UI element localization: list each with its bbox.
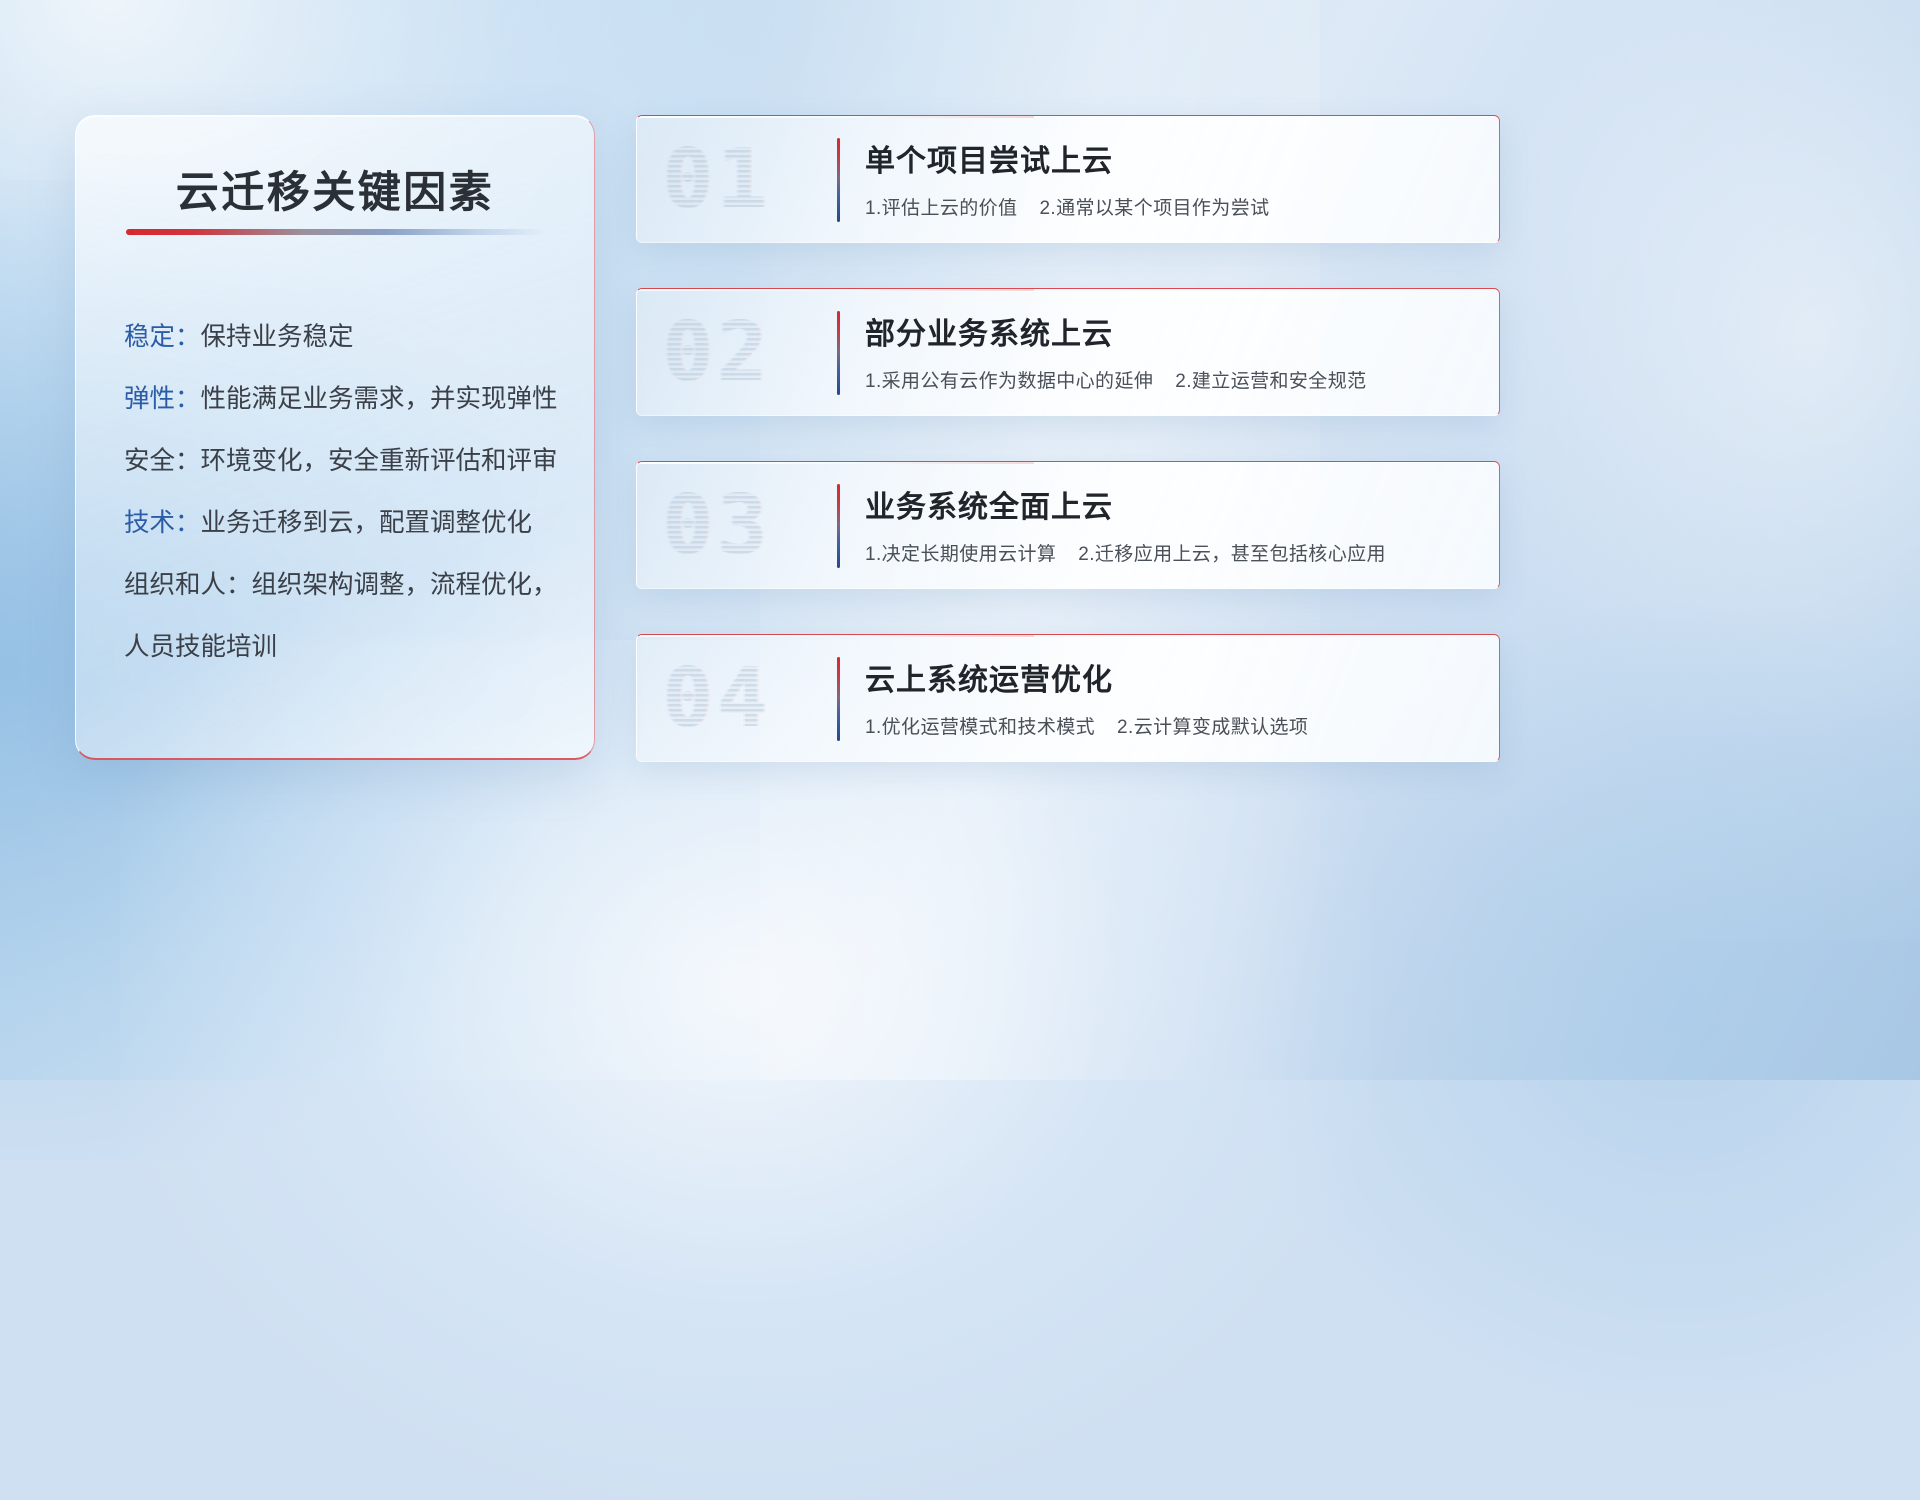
- page-title: 云迁移关键因素: [76, 158, 594, 220]
- stage-card-title: 部分业务系统上云: [865, 309, 1475, 353]
- stage-number-watermark: 03: [663, 476, 841, 576]
- stage-number-watermark: 01: [663, 130, 841, 230]
- key-factor-row: 组织和人：组织架构调整，流程优化，: [124, 554, 560, 616]
- stage-card-description-part-2: 2.通常以某个项目作为尝试: [1039, 198, 1269, 219]
- migration-stage-card[interactable]: 02部分业务系统上云1.采用公有云作为数据中心的延伸2.建立运营和安全规范: [636, 288, 1500, 416]
- key-factor-text: 人员技能培训: [124, 633, 277, 661]
- stage-card-description-part-2: 2.云计算变成默认选项: [1117, 717, 1308, 738]
- stage-card-description-part-1: 1.评估上云的价值: [865, 198, 1017, 219]
- stage-number-watermark: 02: [663, 303, 841, 403]
- stage-divider-accent: [837, 311, 840, 395]
- stage-card-description-part-1: 1.采用公有云作为数据中心的延伸: [865, 371, 1153, 392]
- key-factor-label: 弹性：: [124, 385, 201, 413]
- key-factor-row: 安全：环境变化，安全重新评估和评审: [124, 430, 560, 492]
- key-factor-text: 环境变化，安全重新评估和评审: [201, 447, 558, 475]
- migration-stage-card[interactable]: 01单个项目尝试上云1.评估上云的价值2.通常以某个项目作为尝试: [636, 115, 1500, 243]
- stage-card-title: 业务系统全面上云: [865, 482, 1475, 526]
- stage-number-watermark: 04: [663, 649, 841, 749]
- stage-card-title: 单个项目尝试上云: [865, 136, 1475, 180]
- key-factor-row: 技术：业务迁移到云，配置调整优化: [124, 492, 560, 554]
- stage-card-description: 1.决定长期使用云计算2.迁移应用上云，甚至包括核心应用: [865, 539, 1475, 566]
- key-factors-list: 稳定：保持业务稳定弹性：性能满足业务需求，并实现弹性安全：环境变化，安全重新评估…: [124, 306, 560, 678]
- stage-card-description-part-1: 1.优化运营模式和技术模式: [865, 717, 1095, 738]
- stage-card-body: 部分业务系统上云1.采用公有云作为数据中心的延伸2.建立运营和安全规范: [865, 309, 1475, 393]
- stage-card-description-part-2: 2.迁移应用上云，甚至包括核心应用: [1078, 544, 1386, 565]
- key-factor-row: 人员技能培训: [124, 616, 560, 678]
- migration-stage-card-list: 01单个项目尝试上云1.评估上云的价值2.通常以某个项目作为尝试02部分业务系统…: [636, 115, 1498, 807]
- key-factors-panel: 云迁移关键因素 稳定：保持业务稳定弹性：性能满足业务需求，并实现弹性安全：环境变…: [75, 115, 595, 760]
- stage-card-title: 云上系统运营优化: [865, 655, 1475, 699]
- key-factor-row: 稳定：保持业务稳定: [124, 306, 560, 368]
- stage-card-description: 1.优化运营模式和技术模式2.云计算变成默认选项: [865, 712, 1475, 739]
- stage-divider-accent: [837, 484, 840, 568]
- key-factor-label: 组织和人：: [124, 571, 252, 599]
- migration-stage-card[interactable]: 03业务系统全面上云1.决定长期使用云计算2.迁移应用上云，甚至包括核心应用: [636, 461, 1500, 589]
- title-underline-accent: [126, 229, 546, 235]
- key-factor-label: 技术：: [124, 509, 201, 537]
- stage-card-body: 云上系统运营优化1.优化运营模式和技术模式2.云计算变成默认选项: [865, 655, 1475, 739]
- key-factor-text: 性能满足业务需求，并实现弹性: [201, 385, 558, 413]
- stage-card-description: 1.评估上云的价值2.通常以某个项目作为尝试: [865, 193, 1475, 220]
- stage-divider-accent: [837, 657, 840, 741]
- key-factor-text: 保持业务稳定: [201, 323, 354, 351]
- stage-card-description: 1.采用公有云作为数据中心的延伸2.建立运营和安全规范: [865, 366, 1475, 393]
- stage-card-description-part-2: 2.建立运营和安全规范: [1175, 371, 1366, 392]
- key-factor-label: 安全：: [124, 447, 201, 475]
- key-factor-text: 组织架构调整，流程优化，: [252, 571, 558, 599]
- migration-stage-card[interactable]: 04云上系统运营优化1.优化运营模式和技术模式2.云计算变成默认选项: [636, 634, 1500, 762]
- key-factor-label: 稳定：: [124, 323, 201, 351]
- stage-divider-accent: [837, 138, 840, 222]
- key-factor-row: 弹性：性能满足业务需求，并实现弹性: [124, 368, 560, 430]
- stage-card-description-part-1: 1.决定长期使用云计算: [865, 544, 1056, 565]
- key-factor-text: 业务迁移到云，配置调整优化: [201, 509, 533, 537]
- stage-card-body: 单个项目尝试上云1.评估上云的价值2.通常以某个项目作为尝试: [865, 136, 1475, 220]
- stage-card-body: 业务系统全面上云1.决定长期使用云计算2.迁移应用上云，甚至包括核心应用: [865, 482, 1475, 566]
